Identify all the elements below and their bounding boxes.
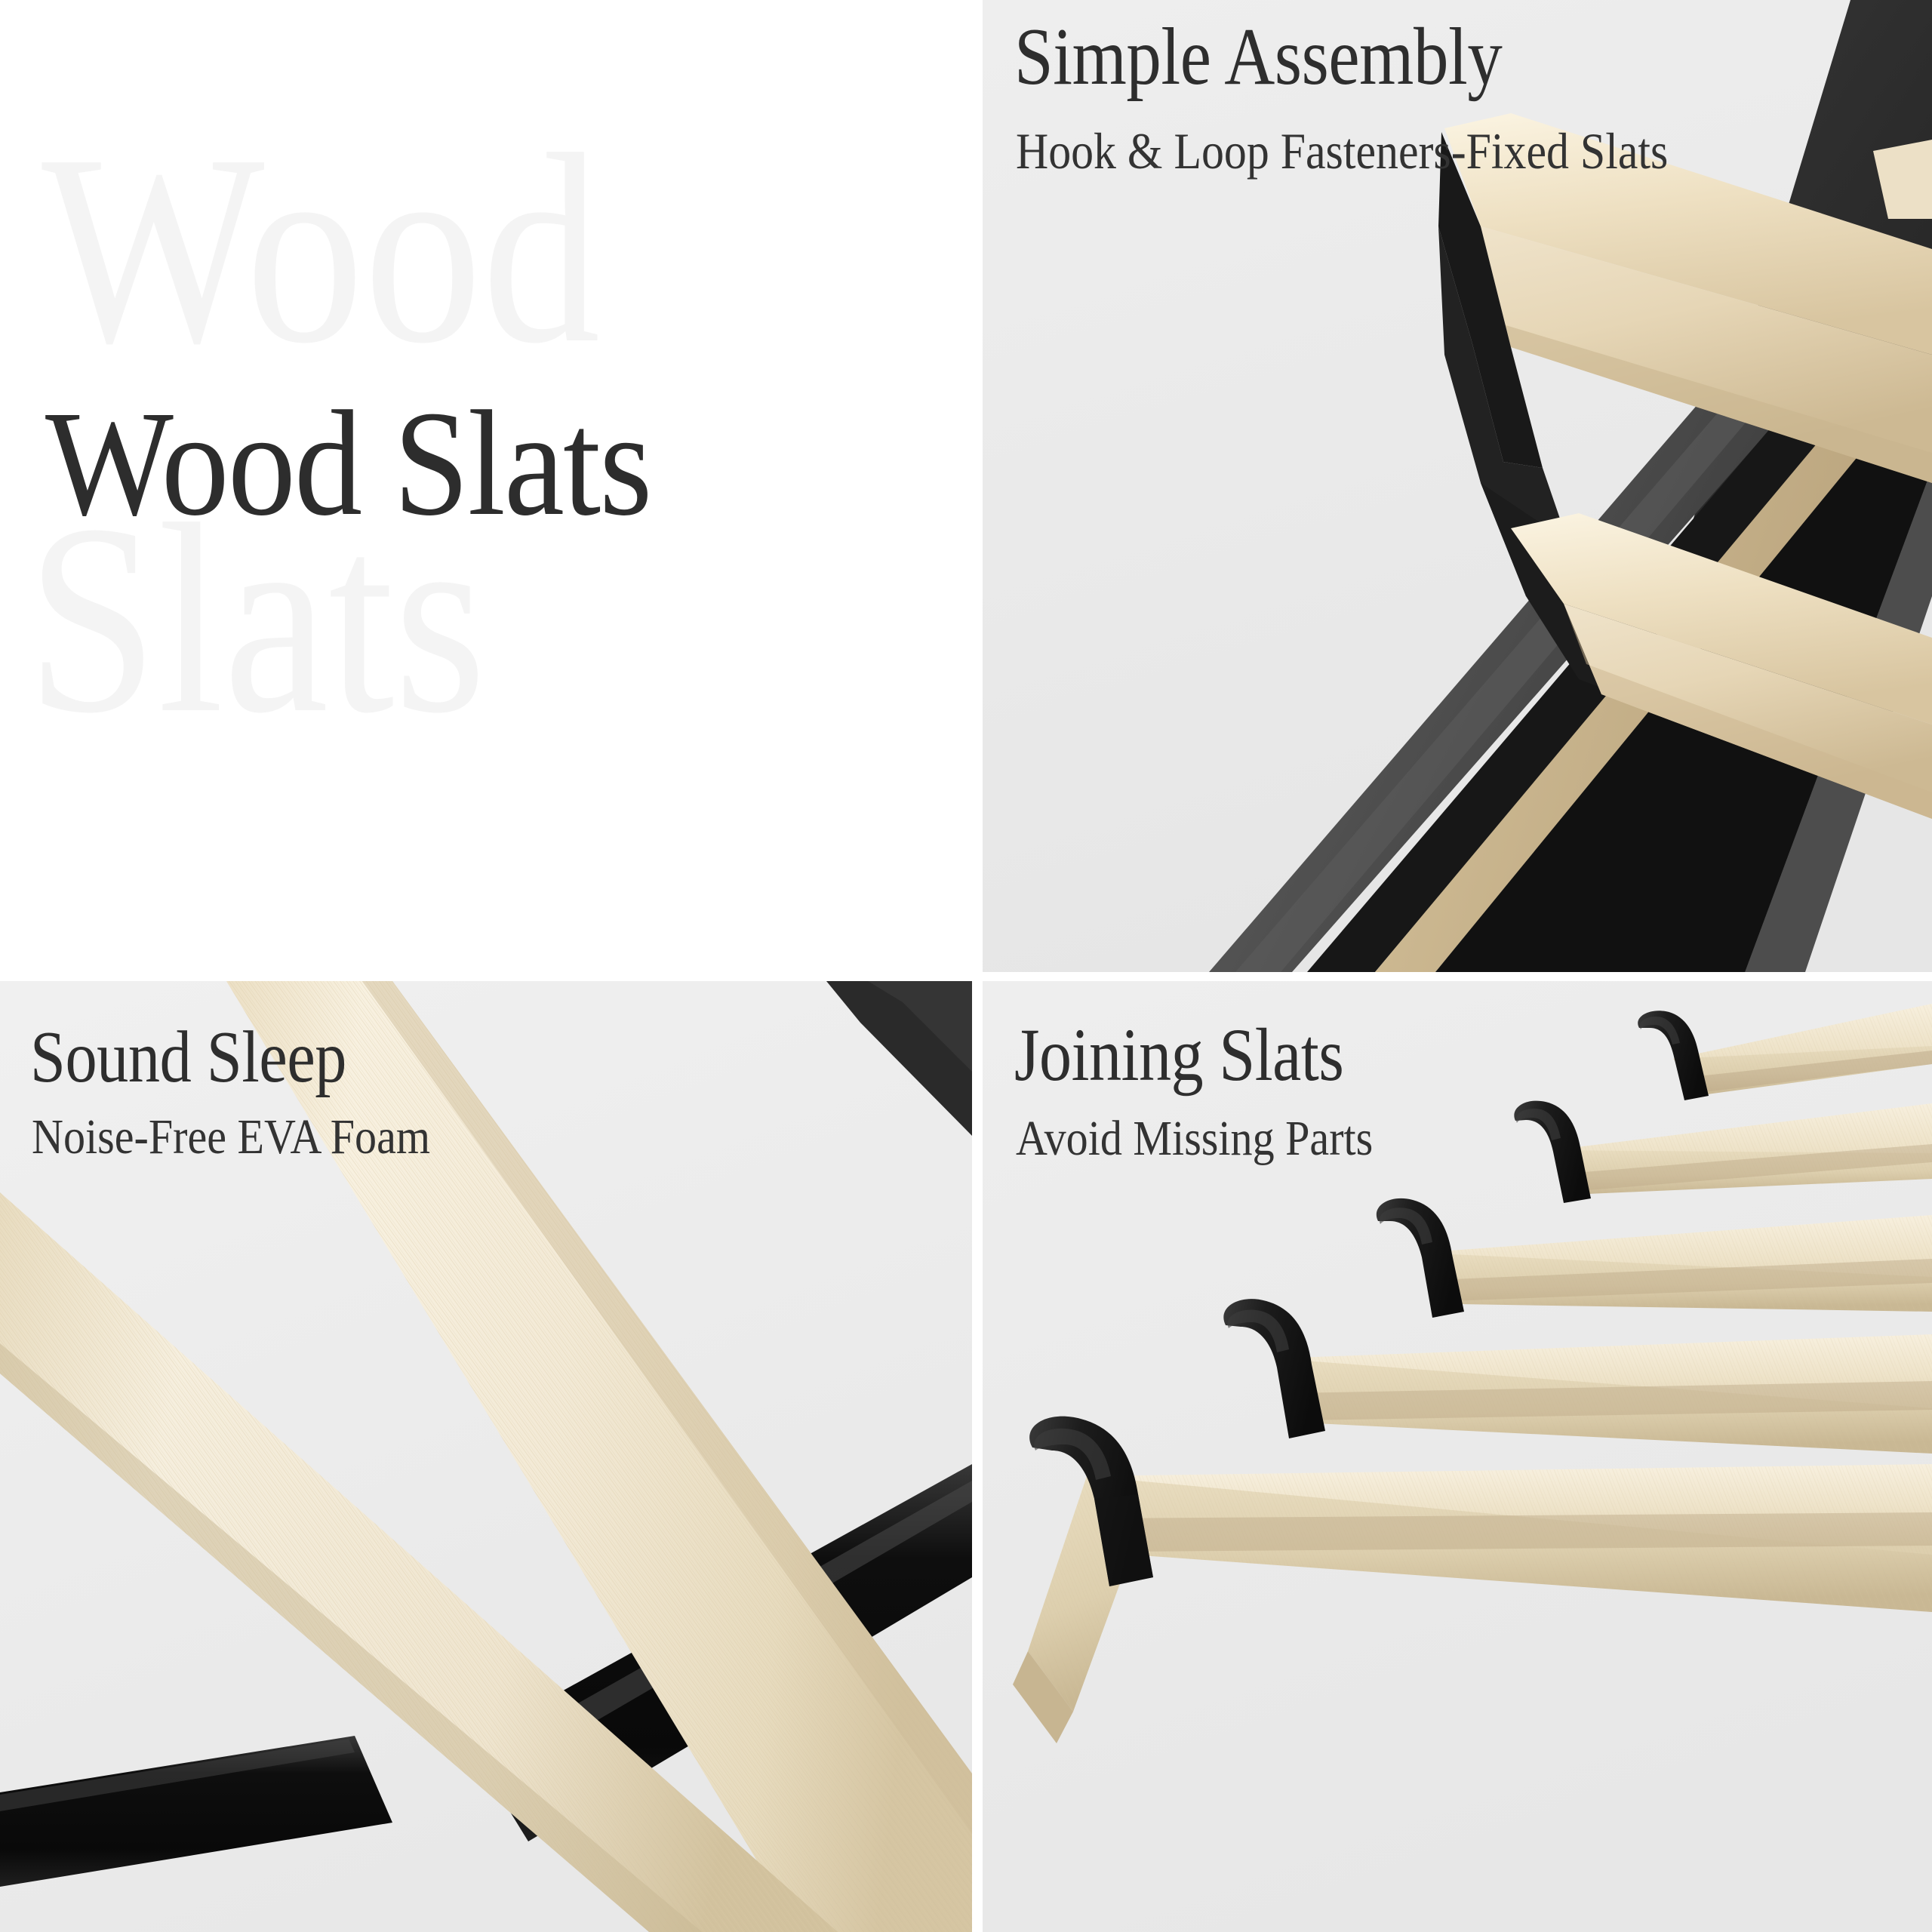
sound-sleep-subtitle: Noise-Free EVA Foam — [32, 1108, 729, 1167]
hero-headline: Wood Slats — [45, 377, 651, 550]
hero-text-group: Wood Slats Wood Slats — [0, 0, 972, 972]
panel-wood-slats-hero: Wood Slats Wood Slats — [0, 0, 972, 972]
sound-sleep-title: Sound Sleep — [30, 1020, 346, 1094]
joining-slats-title: Joining Slats — [1014, 1017, 1343, 1093]
simple-assembly-subtitle: Hook & Loop Fasteners-Fixed Slats — [1016, 121, 1746, 181]
panel-simple-assembly: Simple Assembly Hook & Loop Fasteners-Fi… — [983, 0, 1932, 972]
watermark-wood: Wood — [42, 113, 600, 385]
panel-sound-sleep: Sound Sleep Noise-Free EVA Foam — [0, 981, 972, 1932]
simple-assembly-title: Simple Assembly — [1014, 17, 1502, 98]
product-feature-collage: Wood Slats Wood Slats — [0, 0, 1932, 1932]
joining-slats-subtitle: Avoid Missing Parts — [1016, 1109, 1680, 1168]
panel-joining-slats: Joining Slats Avoid Missing Parts — [983, 981, 1932, 1932]
